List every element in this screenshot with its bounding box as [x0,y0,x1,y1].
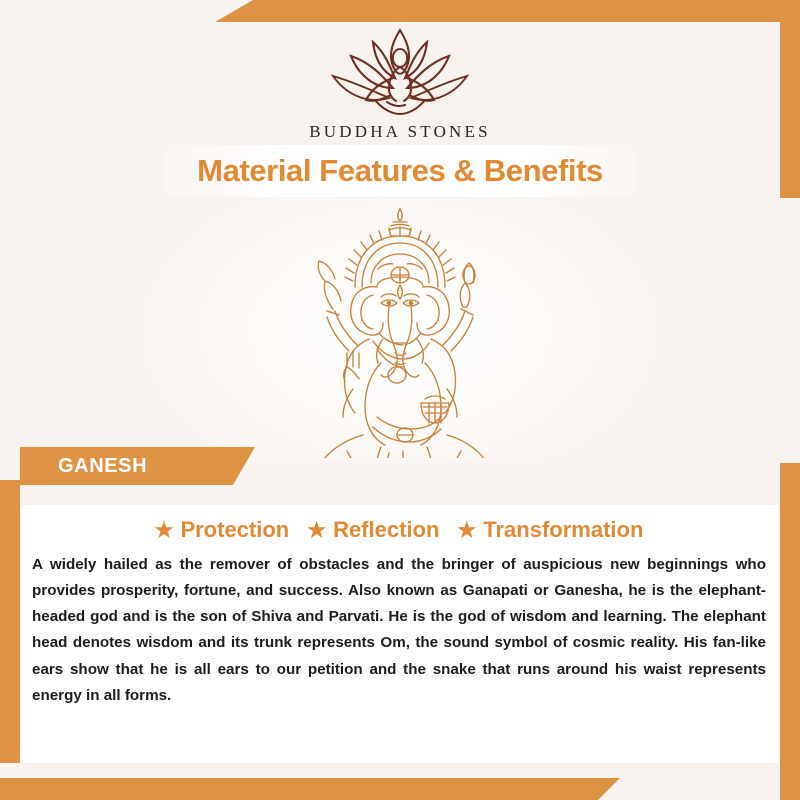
feature-label: Transformation [483,517,643,543]
star-icon: ★ [457,520,476,541]
ganesha-line-art-icon [285,203,515,458]
title-banner: Material Features & Benefits [165,145,635,197]
header: BUDDHA STONES Material Features & Benefi… [0,0,800,200]
deity-name-tag: GANESH [20,447,255,485]
feature-item-transformation: ★ Transformation [457,517,643,543]
brand-name: BUDDHA STONES [0,122,800,142]
feature-item-protection: ★ Protection [155,517,290,543]
hero-illustration [0,198,800,463]
description-text: A widely hailed as the remover of obstac… [32,552,766,709]
frame-left-bar [0,480,20,763]
star-icon: ★ [155,520,174,541]
frame-bottom-bar [0,778,620,800]
brand-logo: BUDDHA STONES [0,26,800,142]
poster-root: BUDDHA STONES Material Features & Benefi… [0,0,800,800]
content-panel: ★ Protection ★ Reflection ★ Transformati… [20,505,778,763]
page-title: Material Features & Benefits [197,153,603,189]
lotus-meditation-icon [325,26,475,118]
deity-name-label: GANESH [58,455,147,478]
feature-label: Protection [180,517,289,543]
feature-item-reflection: ★ Reflection [307,517,439,543]
star-icon: ★ [307,520,326,541]
feature-label: Reflection [333,517,439,543]
feature-list: ★ Protection ★ Reflection ★ Transformati… [20,517,778,543]
